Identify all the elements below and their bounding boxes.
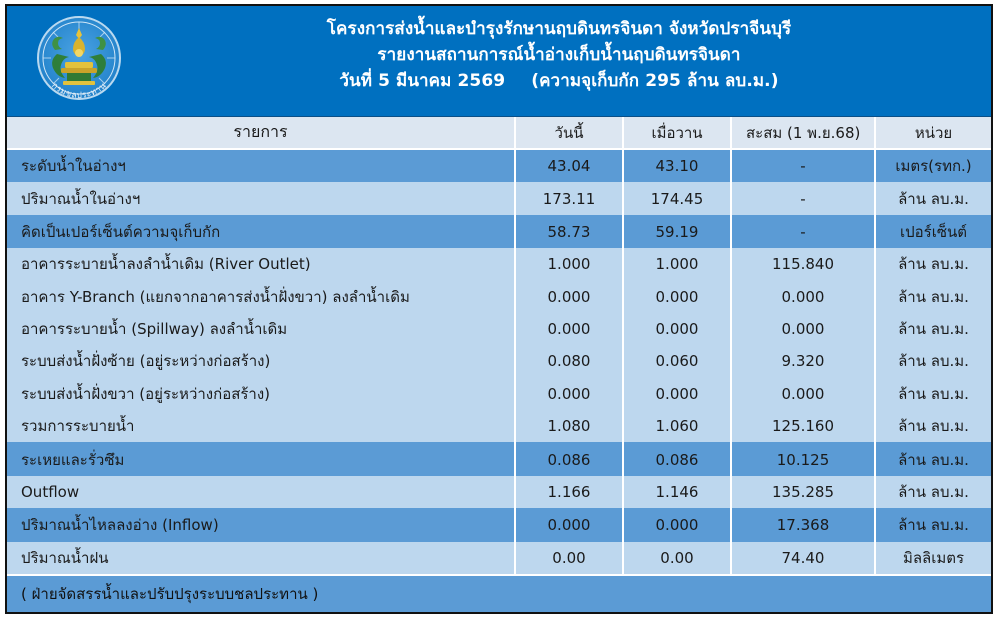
- cell-yesterday: 0.000: [623, 281, 731, 313]
- cell-unit: ล้าน ลบ.ม.: [875, 443, 991, 476]
- cell-today: 1.166: [515, 476, 623, 509]
- cell-item: อาคารระบายน้ำ (Spillway) ลงลำน้ำเดิม: [7, 313, 515, 345]
- cell-accumulated: -: [731, 182, 875, 215]
- cell-today: 1.000: [515, 248, 623, 280]
- table-row: รวมการระบายน้ำ1.0801.060125.160ล้าน ลบ.ม…: [7, 410, 991, 443]
- cell-today: 58.73: [515, 215, 623, 248]
- cell-unit: ล้าน ลบ.ม.: [875, 313, 991, 345]
- report-footer: ( ฝ่ายจัดสรรน้ำและปรับปรุงระบบชลประทาน ): [7, 574, 991, 612]
- cell-today: 0.080: [515, 345, 623, 377]
- table-row: คิดเป็นเปอร์เซ็นต์ความจุเก็บกัก58.7359.1…: [7, 215, 991, 248]
- column-header-today: วันนี้: [515, 117, 623, 149]
- cell-unit: ล้าน ลบ.ม.: [875, 476, 991, 509]
- cell-unit: ล้าน ลบ.ม.: [875, 410, 991, 443]
- table-row: Outflow1.1661.146135.285ล้าน ลบ.ม.: [7, 476, 991, 509]
- table-row: ปริมาณน้ำในอ่างฯ173.11174.45-ล้าน ลบ.ม.: [7, 182, 991, 215]
- cell-unit: มิลลิเมตร: [875, 542, 991, 574]
- cell-yesterday: 0.000: [623, 509, 731, 542]
- cell-today: 0.000: [515, 281, 623, 313]
- report-title-line-2: รายงานสถานการณ์น้ำอ่างเก็บน้ำนฤบดินทรจิน…: [137, 42, 981, 68]
- cell-unit: ล้าน ลบ.ม.: [875, 182, 991, 215]
- cell-yesterday: 0.000: [623, 378, 731, 410]
- cell-item: อาคาร Y-Branch (แยกจากอาคารส่งน้ำฝั่งขวา…: [7, 281, 515, 313]
- cell-item: ระบบส่งน้ำฝั่งขวา (อยู่ระหว่างก่อสร้าง): [7, 378, 515, 410]
- cell-yesterday: 1.000: [623, 248, 731, 280]
- column-header-accumulated: สะสม (1 พ.ย.68): [731, 117, 875, 149]
- cell-unit: ล้าน ลบ.ม.: [875, 248, 991, 280]
- table-row: อาคาร Y-Branch (แยกจากอาคารส่งน้ำฝั่งขวา…: [7, 281, 991, 313]
- column-header-item: รายการ: [7, 117, 515, 149]
- report-title-block: โครงการส่งน้ำและบำรุงรักษานฤบดินทรจินดา …: [137, 16, 981, 94]
- cell-yesterday: 43.10: [623, 149, 731, 182]
- cell-item: คิดเป็นเปอร์เซ็นต์ความจุเก็บกัก: [7, 215, 515, 248]
- cell-today: 0.000: [515, 509, 623, 542]
- cell-today: 173.11: [515, 182, 623, 215]
- cell-yesterday: 1.060: [623, 410, 731, 443]
- cell-today: 1.080: [515, 410, 623, 443]
- cell-yesterday: 1.146: [623, 476, 731, 509]
- cell-accumulated: 125.160: [731, 410, 875, 443]
- cell-today: 43.04: [515, 149, 623, 182]
- cell-yesterday: 0.00: [623, 542, 731, 574]
- cell-item: ปริมาณน้ำในอ่างฯ: [7, 182, 515, 215]
- table-row: อาคารระบายน้ำ (Spillway) ลงลำน้ำเดิม0.00…: [7, 313, 991, 345]
- cell-item: ระเหยและรั่วซึม: [7, 443, 515, 476]
- cell-accumulated: 74.40: [731, 542, 875, 574]
- report-title-line-1: โครงการส่งน้ำและบำรุงรักษานฤบดินทรจินดา …: [137, 16, 981, 42]
- cell-accumulated: 0.000: [731, 378, 875, 410]
- report-header: กรมชลประทาน โครงการส่งน้ำและบำรุงรักษานฤ…: [7, 6, 991, 117]
- cell-accumulated: 0.000: [731, 313, 875, 345]
- cell-accumulated: 9.320: [731, 345, 875, 377]
- column-header-unit: หน่วย: [875, 117, 991, 149]
- table-row: ปริมาณน้ำฝน0.000.0074.40มิลลิเมตร: [7, 542, 991, 574]
- report-date: วันที่ 5 มีนาคม 2569: [339, 71, 505, 91]
- royal-irrigation-department-seal-icon: กรมชลประทาน: [27, 10, 131, 114]
- cell-today: 0.086: [515, 443, 623, 476]
- cell-item: รวมการระบายน้ำ: [7, 410, 515, 443]
- cell-unit: ล้าน ลบ.ม.: [875, 345, 991, 377]
- cell-item: Outflow: [7, 476, 515, 509]
- cell-unit: เมตร(รทก.): [875, 149, 991, 182]
- table-row: ระเหยและรั่วซึม0.0860.08610.125ล้าน ลบ.ม…: [7, 443, 991, 476]
- table-body: ระดับน้ำในอ่างฯ43.0443.10-เมตร(รทก.)ปริม…: [7, 149, 991, 574]
- cell-today: 0.00: [515, 542, 623, 574]
- cell-accumulated: 115.840: [731, 248, 875, 280]
- table-row: ระดับน้ำในอ่างฯ43.0443.10-เมตร(รทก.): [7, 149, 991, 182]
- cell-accumulated: -: [731, 149, 875, 182]
- cell-item: ระดับน้ำในอ่างฯ: [7, 149, 515, 182]
- reservoir-data-table: รายการ วันนี้ เมื่อวาน สะสม (1 พ.ย.68) ห…: [7, 117, 991, 574]
- reservoir-status-report: กรมชลประทาน โครงการส่งน้ำและบำรุงรักษานฤ…: [5, 4, 993, 614]
- table-row: ระบบส่งน้ำฝั่งซ้าย (อยู่ระหว่างก่อสร้าง)…: [7, 345, 991, 377]
- column-header-yesterday: เมื่อวาน: [623, 117, 731, 149]
- cell-today: 0.000: [515, 313, 623, 345]
- cell-unit: ล้าน ลบ.ม.: [875, 509, 991, 542]
- table-header-row: รายการ วันนี้ เมื่อวาน สะสม (1 พ.ย.68) ห…: [7, 117, 991, 149]
- cell-unit: ล้าน ลบ.ม.: [875, 378, 991, 410]
- cell-today: 0.000: [515, 378, 623, 410]
- cell-yesterday: 0.000: [623, 313, 731, 345]
- cell-accumulated: 17.368: [731, 509, 875, 542]
- cell-item: อาคารระบายน้ำลงลำน้ำเดิม (River Outlet): [7, 248, 515, 280]
- cell-accumulated: 10.125: [731, 443, 875, 476]
- report-title-line-3: วันที่ 5 มีนาคม 2569(ความจุเก็บกัก 295 ล…: [137, 68, 981, 94]
- cell-yesterday: 174.45: [623, 182, 731, 215]
- reservoir-capacity: (ความจุเก็บกัก 295 ล้าน ลบ.ม.): [531, 71, 778, 91]
- cell-accumulated: 135.285: [731, 476, 875, 509]
- table-row: ปริมาณน้ำไหลลงอ่าง (Inflow)0.0000.00017.…: [7, 509, 991, 542]
- footer-note: ( ฝ่ายจัดสรรน้ำและปรับปรุงระบบชลประทาน ): [21, 582, 318, 606]
- cell-accumulated: 0.000: [731, 281, 875, 313]
- cell-yesterday: 0.086: [623, 443, 731, 476]
- cell-unit: ล้าน ลบ.ม.: [875, 281, 991, 313]
- cell-yesterday: 59.19: [623, 215, 731, 248]
- cell-yesterday: 0.060: [623, 345, 731, 377]
- cell-accumulated: -: [731, 215, 875, 248]
- table-row: ระบบส่งน้ำฝั่งขวา (อยู่ระหว่างก่อสร้าง)0…: [7, 378, 991, 410]
- cell-unit: เปอร์เซ็นต์: [875, 215, 991, 248]
- table-row: อาคารระบายน้ำลงลำน้ำเดิม (River Outlet)1…: [7, 248, 991, 280]
- cell-item: ระบบส่งน้ำฝั่งซ้าย (อยู่ระหว่างก่อสร้าง): [7, 345, 515, 377]
- cell-item: ปริมาณน้ำไหลลงอ่าง (Inflow): [7, 509, 515, 542]
- cell-item: ปริมาณน้ำฝน: [7, 542, 515, 574]
